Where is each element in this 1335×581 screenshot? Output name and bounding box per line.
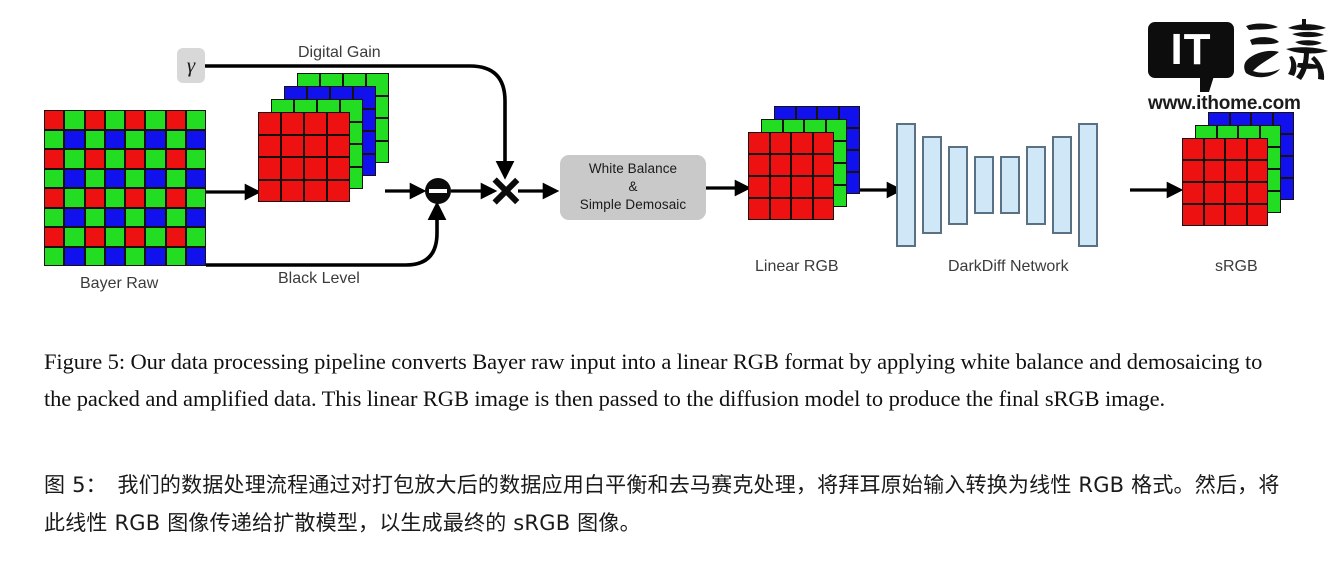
stack-cell xyxy=(1182,138,1204,160)
stack-cell xyxy=(1182,204,1204,226)
bayer-cell xyxy=(145,130,165,150)
bayer-cell xyxy=(145,227,165,247)
bayer-cell xyxy=(145,149,165,169)
bayer-cell xyxy=(166,149,186,169)
bayer-cell xyxy=(166,227,186,247)
stack-cell xyxy=(1182,160,1204,182)
bayer-cell xyxy=(186,110,206,130)
bayer-cell xyxy=(125,110,145,130)
bayer-cell xyxy=(105,188,125,208)
bayer-cell xyxy=(125,247,145,267)
stack-plane-red xyxy=(258,112,350,202)
bayer-cell xyxy=(64,169,84,189)
stack-cell xyxy=(1247,160,1269,182)
stack-cell xyxy=(258,180,281,203)
bayer-cell xyxy=(125,208,145,228)
bayer-raw-grid xyxy=(44,110,206,266)
caption-english: Figure 5: Our data processing pipeline c… xyxy=(44,343,1292,417)
unet-layer-bar xyxy=(896,123,916,247)
caption-chinese: 图 5： 我们的数据处理流程通过对打包放大后的数据应用白平衡和去马赛克处理，将拜… xyxy=(44,466,1292,542)
bayer-cell xyxy=(64,110,84,130)
bayer-cell xyxy=(186,188,206,208)
stack-cell xyxy=(1225,182,1247,204)
bayer-cell xyxy=(166,208,186,228)
stack-cell xyxy=(1247,138,1269,160)
stack-cell xyxy=(1247,182,1269,204)
bayer-cell xyxy=(85,149,105,169)
stack-cell xyxy=(304,135,327,158)
stack-cell xyxy=(281,157,304,180)
packed-stack xyxy=(258,112,388,240)
stack-cell xyxy=(281,180,304,203)
label-bayer-raw: Bayer Raw xyxy=(80,275,158,293)
bayer-cell xyxy=(44,110,64,130)
bayer-cell xyxy=(186,130,206,150)
bayer-cell xyxy=(145,188,165,208)
stack-cell xyxy=(327,157,350,180)
stack-cell xyxy=(748,198,770,220)
bayer-cell xyxy=(186,247,206,267)
darkdiff-unet-bars xyxy=(896,120,1130,250)
stack-cell xyxy=(1247,204,1269,226)
stack-cell xyxy=(327,135,350,158)
bayer-cell xyxy=(166,130,186,150)
bayer-cell xyxy=(105,149,125,169)
stack-cell xyxy=(748,132,770,154)
stack-cell xyxy=(1225,204,1247,226)
bayer-cell xyxy=(85,169,105,189)
stack-cell xyxy=(770,198,792,220)
bayer-cell xyxy=(85,227,105,247)
gamma-parameter-box[interactable]: γ xyxy=(177,48,205,83)
multiply-operator-icon xyxy=(492,176,520,206)
bayer-cell xyxy=(186,169,206,189)
stack-cell xyxy=(281,112,304,135)
unet-layer-bar xyxy=(1078,123,1098,247)
bayer-cell xyxy=(44,247,64,267)
bayer-cell xyxy=(105,110,125,130)
stack-cell xyxy=(304,112,327,135)
bayer-cell xyxy=(105,227,125,247)
wb-line-3: Simple Demosaic xyxy=(560,196,706,214)
figure-page: IT ww xyxy=(0,0,1335,581)
bayer-cell xyxy=(85,208,105,228)
stack-cell xyxy=(304,180,327,203)
stack-cell xyxy=(770,154,792,176)
bayer-cell xyxy=(85,188,105,208)
stack-cell xyxy=(813,198,835,220)
stack-cell xyxy=(281,135,304,158)
bayer-cell xyxy=(105,169,125,189)
stack-cell xyxy=(1204,204,1226,226)
unet-layer-bar xyxy=(974,156,994,214)
stack-cell xyxy=(304,157,327,180)
bayer-cell xyxy=(44,130,64,150)
bayer-cell xyxy=(85,130,105,150)
stack-cell xyxy=(1182,182,1204,204)
bayer-cell xyxy=(64,227,84,247)
stack-cell xyxy=(813,154,835,176)
bayer-cell xyxy=(64,247,84,267)
stack-cell xyxy=(813,132,835,154)
unet-layer-bar xyxy=(922,136,942,234)
stack-cell xyxy=(1204,138,1226,160)
pipeline-diagram: Bayer Raw Black Level γ Digital Gain Whi… xyxy=(0,0,1335,310)
stack-cell xyxy=(1225,138,1247,160)
bayer-cell xyxy=(85,247,105,267)
bayer-cell xyxy=(186,208,206,228)
bayer-cell xyxy=(145,169,165,189)
stack-cell xyxy=(258,157,281,180)
bayer-cell xyxy=(44,149,64,169)
bayer-cell xyxy=(105,247,125,267)
bayer-cell xyxy=(44,208,64,228)
unet-layer-bar xyxy=(948,146,968,225)
srgb-stack xyxy=(1182,138,1294,256)
stack-cell xyxy=(748,154,770,176)
linear-rgb-stack xyxy=(748,132,858,250)
bayer-cell xyxy=(44,188,64,208)
bayer-cell xyxy=(145,110,165,130)
stack-cell xyxy=(1204,182,1226,204)
stack-cell xyxy=(1225,160,1247,182)
bayer-cell xyxy=(64,149,84,169)
unet-layer-bar xyxy=(1026,146,1046,225)
stack-cell xyxy=(791,198,813,220)
stack-cell xyxy=(791,132,813,154)
stack-cell xyxy=(748,176,770,198)
stack-cell xyxy=(770,132,792,154)
label-digital-gain: Digital Gain xyxy=(298,44,381,62)
bayer-cell xyxy=(85,110,105,130)
bayer-cell xyxy=(186,149,206,169)
stack-cell xyxy=(791,154,813,176)
bayer-cell xyxy=(125,149,145,169)
bayer-cell xyxy=(64,208,84,228)
bayer-cell xyxy=(44,227,64,247)
bayer-cell xyxy=(166,169,186,189)
label-linear-rgb: Linear RGB xyxy=(755,258,839,276)
wb-line-1: White Balance xyxy=(560,160,706,178)
stack-cell xyxy=(258,135,281,158)
bayer-cell xyxy=(125,227,145,247)
bayer-cell xyxy=(64,130,84,150)
stack-cell xyxy=(791,176,813,198)
bayer-cell xyxy=(44,169,64,189)
bayer-cell xyxy=(186,227,206,247)
stack-cell xyxy=(327,112,350,135)
subtract-operator-icon xyxy=(425,178,451,204)
bayer-cell xyxy=(125,188,145,208)
bayer-cell xyxy=(64,188,84,208)
stack-plane-red xyxy=(748,132,834,220)
label-darkdiff-network: DarkDiff Network xyxy=(948,258,1069,276)
white-balance-demosaic-box[interactable]: White Balance & Simple Demosaic xyxy=(560,155,706,220)
wb-line-2: & xyxy=(560,178,706,196)
bayer-cell xyxy=(166,110,186,130)
label-srgb: sRGB xyxy=(1215,258,1258,276)
label-black-level: Black Level xyxy=(278,270,360,288)
stack-cell xyxy=(1204,160,1226,182)
stack-cell xyxy=(813,176,835,198)
bayer-cell xyxy=(125,169,145,189)
unet-layer-bar xyxy=(1000,156,1020,214)
unet-layer-bar xyxy=(1052,136,1072,234)
bayer-cell xyxy=(105,130,125,150)
stack-plane-red xyxy=(1182,138,1268,226)
bayer-cell xyxy=(145,208,165,228)
bayer-cell xyxy=(166,247,186,267)
stack-cell xyxy=(770,176,792,198)
bayer-cell xyxy=(105,208,125,228)
bayer-cell xyxy=(166,188,186,208)
bayer-cell xyxy=(125,130,145,150)
stack-cell xyxy=(327,180,350,203)
stack-cell xyxy=(258,112,281,135)
bayer-cell xyxy=(145,247,165,267)
